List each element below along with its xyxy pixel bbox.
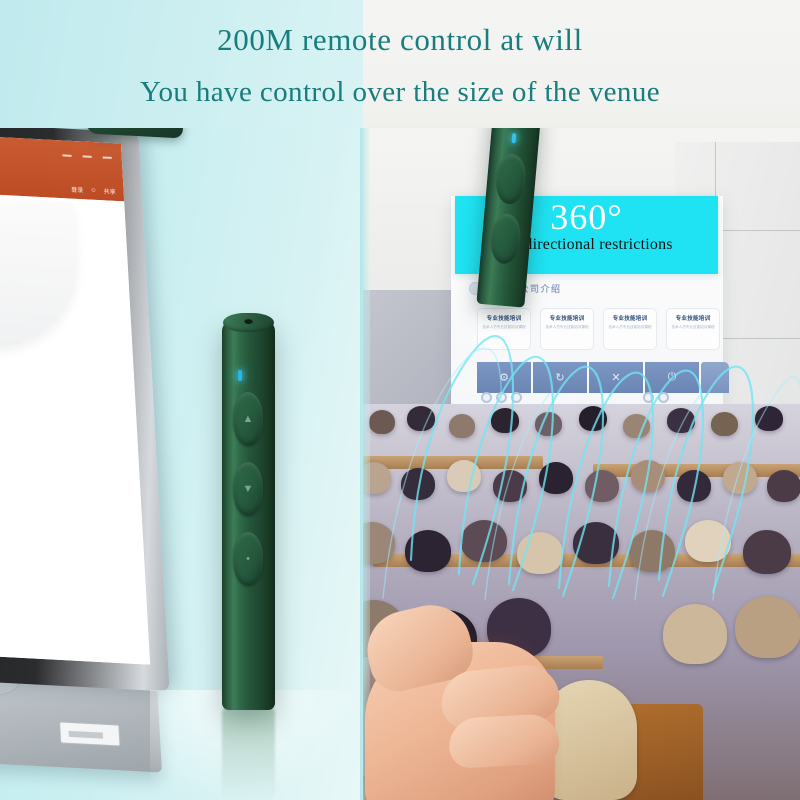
audience-head xyxy=(685,520,731,562)
lanyard-hole-icon xyxy=(244,318,253,324)
slide-cn-label: 和发展前景 xyxy=(0,609,37,646)
audience-head xyxy=(743,530,791,574)
audience-head xyxy=(579,406,607,431)
hand xyxy=(363,590,565,800)
audience-head xyxy=(677,470,711,502)
trailer-segment: ⚙ xyxy=(477,362,531,393)
card-title: 专业技能培训 xyxy=(545,314,589,322)
slide-cn-label: 和公司介绍 xyxy=(0,373,24,410)
ceiling-light-icon xyxy=(558,26,630,40)
audience-head xyxy=(711,412,738,436)
trailer-segment: ↻ xyxy=(533,362,587,393)
cab-wheels xyxy=(643,392,669,403)
list-item[interactable]: 和市场分析 PART THREE xyxy=(0,531,33,578)
led-indicator-icon xyxy=(512,133,517,143)
slide-card: 专业技能培训 技术人员专业技能培训课程 xyxy=(666,308,720,350)
finger xyxy=(448,713,560,769)
page-up-button[interactable]: ▲ xyxy=(233,392,263,446)
audience-head xyxy=(407,406,435,431)
audience-head xyxy=(405,530,451,572)
page-up-button[interactable] xyxy=(494,153,527,205)
trailer-segment: ⏻ xyxy=(645,362,699,393)
share-label[interactable]: 共享 xyxy=(103,186,116,196)
truck-graphic: ⚙ ↻ ✕ ⏻ xyxy=(477,362,729,393)
audience-head xyxy=(449,414,475,438)
trailer-segment: ✕ xyxy=(589,362,643,393)
audience-head xyxy=(629,530,675,572)
audience-head xyxy=(723,462,757,494)
window-controls[interactable] xyxy=(62,154,111,159)
audience-head xyxy=(493,470,527,502)
ceiling-light-icon xyxy=(618,10,676,20)
card-title: 专业技能培训 xyxy=(482,314,526,322)
card-body: 技术人员专业技能培训课程 xyxy=(671,325,715,331)
page-up-icon: ▲ xyxy=(233,413,263,425)
audience-head xyxy=(735,596,800,658)
audience-head xyxy=(663,604,727,664)
audience-head xyxy=(623,414,650,438)
list-item[interactable]: 和运营管理 PART TWO xyxy=(0,452,29,499)
slide-cn-label: 和运营管理 xyxy=(0,452,28,489)
audience-head xyxy=(755,406,783,431)
page-down-icon: ▼ xyxy=(233,483,263,495)
audience-head xyxy=(447,460,481,492)
slide-card: 专业技能培训 技术人员专业技能培训课程 xyxy=(477,308,531,350)
card-body: 技术人员专业技能培训课程 xyxy=(545,325,589,331)
page-down-button[interactable] xyxy=(489,213,522,265)
person-icon: ☺ xyxy=(90,187,97,193)
remote-reflection xyxy=(222,706,275,800)
account-label[interactable]: 登录 xyxy=(71,185,84,195)
slide-outline-list: 和公司介绍 PART ONE 和运营管理 PART TWO 和市场分析 PART… xyxy=(0,373,40,665)
auditorium-photo: 项目和公司介绍 专业技能培训 技术人员专业技能培训课程 专业技能培训 技术人员专… xyxy=(363,0,800,800)
audience-head xyxy=(767,470,800,502)
audience-head xyxy=(517,532,563,574)
audience-head xyxy=(667,408,695,433)
card-body: 技术人员专业技能培训课程 xyxy=(608,325,652,331)
usb-receiver-dongle[interactable] xyxy=(85,86,184,139)
list-item[interactable]: 和发展前景 PART FOUR xyxy=(0,609,37,656)
audience-head xyxy=(401,468,435,500)
trailer: ⚙ ↻ ✕ ⏻ xyxy=(477,362,699,393)
truck-cab xyxy=(701,362,729,393)
audience-head xyxy=(585,470,619,502)
page-down-button[interactable]: ▼ xyxy=(233,462,263,516)
slide-cards: 专业技能培训 技术人员专业技能培训课程 专业技能培训 技术人员专业技能培训课程 … xyxy=(477,308,720,350)
card-title: 专业技能培训 xyxy=(671,314,715,322)
audience-head xyxy=(631,460,665,492)
usb-port xyxy=(59,721,120,746)
list-item[interactable]: 和公司介绍 PART ONE xyxy=(0,373,24,420)
titlebar-account-row[interactable]: 登录 ☺ 共享 xyxy=(71,185,116,196)
audience-head xyxy=(491,408,519,433)
card-title: 专业技能培训 xyxy=(608,314,652,322)
product-marketing-image: 项目和公司介绍 专业技能培训 技术人员专业技能培训课程 专业技能培训 技术人员专… xyxy=(0,0,800,800)
trailer-wheels xyxy=(481,392,522,403)
slide-card: 专业技能培训 技术人员专业技能培训课程 xyxy=(540,308,594,350)
slide-cn-label: 和市场分析 xyxy=(0,531,33,568)
audience-head xyxy=(369,410,395,434)
slide-card: 专业技能培训 技术人员专业技能培训课程 xyxy=(603,308,657,350)
audience-head xyxy=(573,522,619,564)
laser-icon: • xyxy=(233,553,263,565)
audience-head xyxy=(535,412,562,436)
presenter-remote[interactable]: ▲ ▼ • xyxy=(222,320,275,710)
slide-decoration-arc xyxy=(0,193,83,353)
card-body: 技术人员专业技能培训课程 xyxy=(482,325,526,331)
audience-head xyxy=(461,520,507,562)
led-indicator-icon xyxy=(238,370,242,381)
audience-head xyxy=(539,462,573,494)
laser-button[interactable]: • xyxy=(233,532,263,586)
